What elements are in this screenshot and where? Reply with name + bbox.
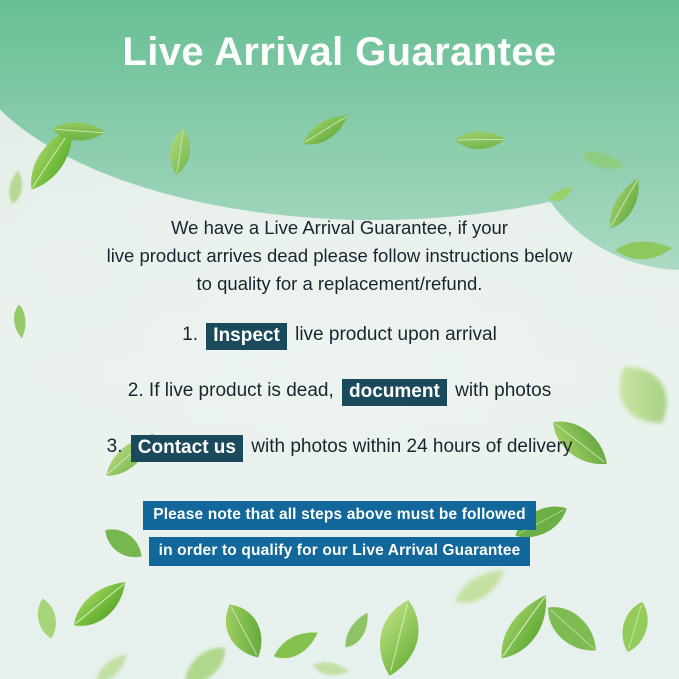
step-number: 1. — [182, 324, 198, 345]
intro-line: We have a Live Arrival Guarantee, if you… — [0, 214, 679, 242]
step-highlight-inspect: Inspect — [206, 323, 287, 350]
intro-line: live product arrives dead please follow … — [0, 242, 679, 270]
step-highlight-contact-us: Contact us — [131, 435, 243, 462]
step-text-after: with photos — [455, 380, 551, 401]
step-text-after: live product upon arrival — [295, 324, 497, 345]
live-arrival-guarantee-poster: Live Arrival Guarantee We have a Live Ar… — [0, 0, 679, 679]
steps-list: 1. Inspect live product upon arrival 2. … — [0, 322, 679, 490]
step-number: 3. — [107, 436, 123, 457]
step-item: 3. Contact us with photos within 24 hour… — [0, 434, 679, 461]
page-title: Live Arrival Guarantee — [0, 30, 679, 75]
step-item: 2. If live product is dead, document wit… — [0, 378, 679, 405]
step-item: 1. Inspect live product upon arrival — [0, 322, 679, 349]
step-highlight-document: document — [342, 379, 447, 406]
step-text-after: with photos within 24 hours of delivery — [251, 436, 572, 457]
step-number: 2. — [128, 380, 144, 401]
note-banner: Please note that all steps above must be… — [0, 501, 679, 566]
note-banner-line: Please note that all steps above must be… — [143, 501, 536, 530]
note-banner-line: in order to qualify for our Live Arrival… — [149, 537, 531, 566]
intro-line: to quality for a replacement/refund. — [0, 270, 679, 298]
step-text-before: If live product is dead, — [149, 380, 334, 401]
intro-paragraph: We have a Live Arrival Guarantee, if you… — [0, 214, 679, 298]
